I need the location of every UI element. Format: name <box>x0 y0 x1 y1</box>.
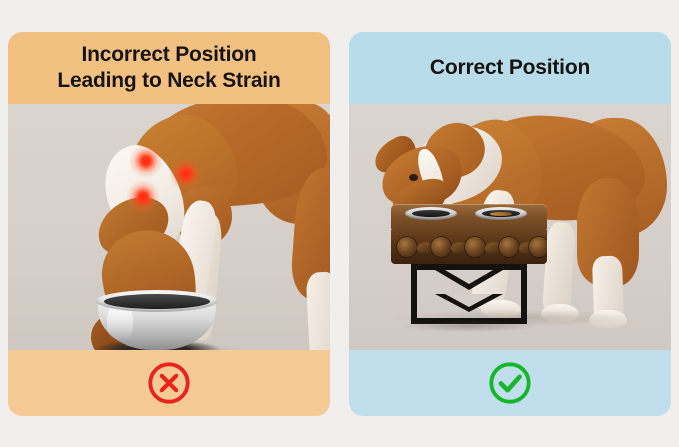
neck-strain-hotspot-3 <box>126 180 160 214</box>
floor-bowl-interior <box>104 294 210 309</box>
panel-incorrect-position: Incorrect Position Leading to Neck Strai… <box>8 32 330 416</box>
panel-incorrect-title: Incorrect Position Leading to Neck Strai… <box>49 42 288 95</box>
base-chevron-1-cut <box>445 270 493 284</box>
dog-eye <box>409 174 418 181</box>
dog-eating-from-floor-bowl-illustration <box>8 104 330 350</box>
panel-correct-photo <box>349 104 671 350</box>
feeder-carved-apron <box>391 230 547 264</box>
feeder-shadow <box>401 320 537 332</box>
panel-correct-position: Correct Position <box>349 32 671 416</box>
panel-correct-footer <box>349 350 671 416</box>
feeder-bowl-right <box>475 207 527 220</box>
panel-incorrect-title-line2: Leading to Neck Strain <box>57 69 280 92</box>
kibble-food <box>490 212 513 216</box>
elevated-feeder <box>391 204 547 324</box>
carved-flower-4 <box>499 237 519 257</box>
circle-check-icon <box>487 360 533 406</box>
dog-eating-from-elevated-feeder-illustration <box>349 104 671 350</box>
circle-x-icon <box>146 360 192 406</box>
carved-flower-3 <box>465 237 485 257</box>
panel-incorrect-footer <box>8 350 330 416</box>
carved-flower-1 <box>397 237 417 257</box>
panel-incorrect-title-line1: Incorrect Position <box>82 43 257 66</box>
neck-strain-hotspot-1 <box>129 144 163 178</box>
dog-hind-leg-lower <box>306 271 330 350</box>
neck-strain-hotspot-2 <box>169 157 203 191</box>
comparison-infographic: Incorrect Position Leading to Neck Strai… <box>0 0 679 447</box>
carved-flower-2 <box>431 237 451 257</box>
panel-correct-header: Correct Position <box>349 32 671 104</box>
base-chevron-2-cut <box>445 294 493 307</box>
feeder-metal-base <box>411 264 527 324</box>
feeder-bowl-left <box>405 207 457 220</box>
panel-incorrect-photo <box>8 104 330 350</box>
panel-correct-title: Correct Position <box>422 55 598 81</box>
panel-incorrect-header: Incorrect Position Leading to Neck Strai… <box>8 32 330 104</box>
carved-flower-5 <box>529 237 547 257</box>
